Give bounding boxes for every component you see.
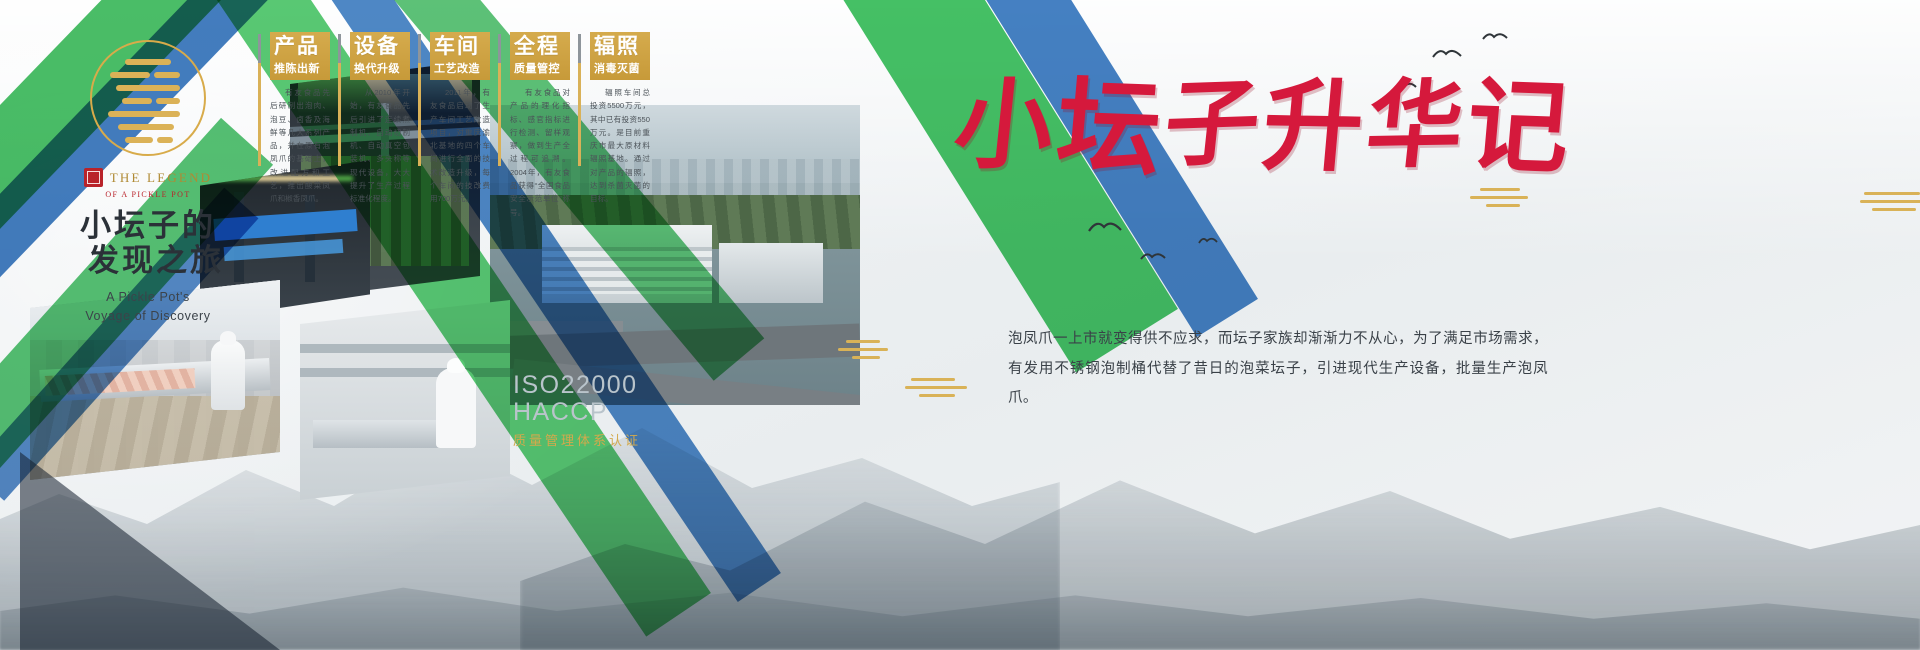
card-body: 2011年，有友食品启动了生产车间工艺改造项目，对重庆渝北基地的四个车间进行全面… xyxy=(430,86,490,206)
cloud-ornament-icon xyxy=(905,378,967,402)
certification-line-3: 质量管理体系认证 xyxy=(513,430,641,449)
headline-char: 升 xyxy=(1259,77,1368,179)
info-card: 车间 工艺改造 2011年，有友食品启动了生产车间工艺改造项目，对重庆渝北基地的… xyxy=(418,32,490,219)
bird-icon xyxy=(1482,30,1508,42)
card-subtitle: 推陈出新 xyxy=(274,60,327,76)
card-body: 有友食品对产品的理化指标、感官指标进行检测、留样观察，做到生产全过程可追溯。20… xyxy=(510,86,570,219)
card-accent-bar xyxy=(258,34,261,166)
legend-sub-text: OF A PICKLE POT xyxy=(48,190,248,199)
card-accent-bar xyxy=(418,34,421,166)
card-title: 全程 xyxy=(514,36,567,58)
poster-canvas: THE LEGEND OF A PICKLE POT 小坛子的 发现之旅 A P… xyxy=(0,0,1920,650)
headline-char: 记 xyxy=(1463,76,1574,181)
info-card: 产品 推陈出新 有友食品先后研制出泡肉、泡豆、卤香及海鲜等几大系列产品，并在原有… xyxy=(258,32,330,219)
card-accent-bar xyxy=(338,34,341,166)
card-subtitle: 消毒灭菌 xyxy=(594,60,647,76)
body-paragraph: 泡凤爪一上市就变得供不应求，而坛子家族却渐渐力不从心，为了满足市场需求，有发用不… xyxy=(1008,325,1548,414)
card-subtitle: 质量管控 xyxy=(514,60,567,76)
info-card: 辐照 消毒灭菌 辐照车间总投资5500万元，其中已有投资550万元。是目前重庆市… xyxy=(578,32,650,219)
headline-char: 子 xyxy=(1160,76,1264,173)
cloud-ornament-icon xyxy=(838,340,888,364)
certification-line-1: ISO22000 xyxy=(513,372,641,399)
card-title: 产品 xyxy=(274,36,327,58)
legend-wordmark: THE LEGEND xyxy=(48,168,248,187)
card-title: 设备 xyxy=(354,36,407,58)
brand-title-line1: 小坛子的 xyxy=(48,209,248,244)
seal-mark-icon xyxy=(90,40,206,156)
card-header: 产品 推陈出新 xyxy=(270,32,330,80)
legend-en-text: THE LEGEND xyxy=(110,170,213,186)
bird-icon xyxy=(1140,250,1166,262)
card-subtitle: 换代升级 xyxy=(354,60,407,76)
brand-title-line2: 发现之旅 xyxy=(48,244,248,279)
certification-line-2: HACCP xyxy=(513,399,641,426)
red-seal-icon xyxy=(84,168,103,187)
bird-icon xyxy=(1088,218,1122,234)
headline-char: 华 xyxy=(1362,77,1468,175)
info-card: 全程 质量管控 有友食品对产品的理化指标、感官指标进行检测、留样观察，做到生产全… xyxy=(498,32,570,219)
certification-block: ISO22000 HACCP 质量管理体系认证 xyxy=(513,372,641,449)
bird-icon xyxy=(1198,235,1218,245)
brand-subtitle-en-line1: A Pickle Pot's xyxy=(48,288,248,306)
headline-calligraphy: 小 坛 子 升 华 记 xyxy=(955,78,1569,182)
card-header: 辐照 消毒灭菌 xyxy=(590,32,650,80)
brand-logo-block: THE LEGEND OF A PICKLE POT 小坛子的 发现之旅 A P… xyxy=(48,40,248,325)
bird-icon xyxy=(1432,46,1462,60)
brand-subtitle-en: A Pickle Pot's Voyage of Discovery xyxy=(48,288,248,324)
card-header: 设备 换代升级 xyxy=(350,32,410,80)
cloud-ornament-icon xyxy=(1860,192,1920,216)
headline-char: 坛 xyxy=(1053,76,1166,184)
card-title: 辐照 xyxy=(594,36,647,58)
card-body: 辐照车间总投资5500万元，其中已有投资550万元。是目前重庆市最大原材料辐照基… xyxy=(590,86,650,206)
card-header: 全程 质量管控 xyxy=(510,32,570,80)
card-accent-bar xyxy=(498,34,501,166)
headline-char: 小 xyxy=(950,78,1058,176)
card-body: 有友食品先后研制出泡肉、泡豆、卤香及海鲜等几大系列产品，并在原有泡凤爪的基础上，… xyxy=(270,86,330,206)
card-header: 车间 工艺改造 xyxy=(430,32,490,80)
brand-subtitle-en-line2: Voyage of Discovery xyxy=(48,307,248,325)
info-card-row: 产品 推陈出新 有友食品先后研制出泡肉、泡豆、卤香及海鲜等几大系列产品，并在原有… xyxy=(258,32,650,219)
cloud-ornament-icon xyxy=(1470,188,1528,212)
info-card: 设备 换代升级 从2010年开始，有友食品先后引进了连续煮制机、自动切制机、自动… xyxy=(338,32,410,219)
card-title: 车间 xyxy=(434,36,487,58)
card-subtitle: 工艺改造 xyxy=(434,60,487,76)
card-body: 从2010年开始，有友食品先后引进了连续煮制机、自动切制机、自动真空包装机、多头… xyxy=(350,86,410,206)
card-accent-bar xyxy=(578,34,581,166)
brand-title-cn: 小坛子的 发现之旅 xyxy=(48,209,248,278)
